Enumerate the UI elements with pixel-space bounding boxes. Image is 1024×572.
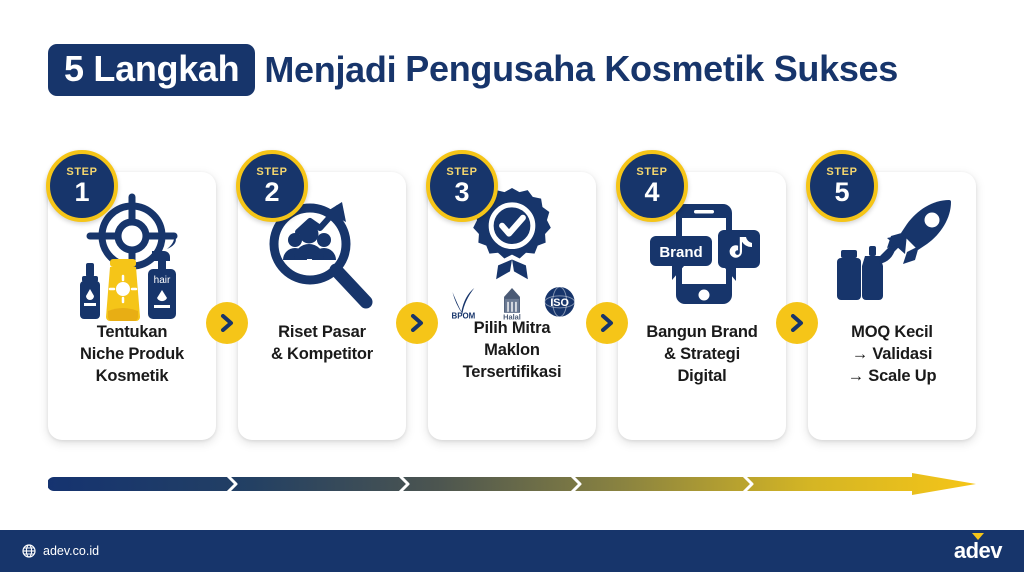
page-title: 5 Langkah Menjadi Pengusaha Kosmetik Suk… (48, 44, 898, 96)
step-card-label: Riset Pasar & Kompetitor (265, 322, 379, 366)
step-badge-2: STEP 2 (236, 150, 308, 222)
label-line: Tentukan (80, 322, 184, 344)
step-word: STEP (446, 167, 477, 178)
label-line: Digital (646, 366, 757, 388)
label-line: Riset Pasar (271, 322, 373, 344)
step-badge-4: STEP 4 (616, 150, 688, 222)
title-badge: 5 Langkah (48, 44, 255, 96)
label-line: Bangun Brand (646, 322, 757, 344)
label-line: Kosmetik (80, 366, 184, 388)
chevron-right-icon (598, 314, 616, 332)
step-word: STEP (826, 167, 857, 178)
footer-website-label: adev.co.id (43, 544, 99, 558)
connector-arrow-2 (396, 302, 438, 344)
title-plain-text: Menjadi (264, 52, 396, 88)
infographic-page: 5 Langkah Menjadi Pengusaha Kosmetik Suk… (0, 0, 1024, 572)
step-number: 1 (74, 179, 89, 206)
chevron-right-icon (408, 314, 426, 332)
label-line: MOQ Kecil (848, 322, 937, 344)
footer-website[interactable]: adev.co.id (22, 544, 99, 558)
brand-logo: adev (954, 540, 1002, 562)
label-line: & Strategi (646, 344, 757, 366)
step-card-label: Bangun Brand & Strategi Digital (640, 322, 763, 387)
label-line: Pilih Mitra (463, 318, 562, 340)
connector-arrow-1 (206, 302, 248, 344)
step-badge-5: STEP 5 (806, 150, 878, 222)
label-line: & Kompetitor (271, 344, 373, 366)
step-word: STEP (256, 167, 287, 178)
brand-bubble-text: Brand (659, 244, 702, 261)
step-word: STEP (636, 167, 667, 178)
step-number: 2 (264, 179, 279, 206)
step-number: 5 (834, 179, 849, 206)
step-number: 3 (454, 179, 469, 206)
step-number: 4 (644, 179, 659, 206)
logo-triangle-icon (972, 533, 984, 540)
connector-arrow-4 (776, 302, 818, 344)
label-line: Maklon (463, 340, 562, 362)
label-line: → Scale Up (848, 366, 937, 388)
step-badge-1: STEP 1 (46, 150, 118, 222)
step-card-label: Pilih Mitra Maklon Tersertifikasi (457, 318, 568, 383)
step-card-label: Tentukan Niche Produk Kosmetik (74, 322, 190, 387)
gradient-progress-arrow (48, 473, 980, 495)
brand-logo-text: adev (954, 538, 1002, 563)
footer-bar: adev.co.id adev (0, 530, 1024, 572)
svg-text:hair: hair (154, 275, 171, 286)
label-line: Niche Produk (80, 344, 184, 366)
chevron-right-icon (218, 314, 236, 332)
steps-container: hair Tentukan Niche Produk Kosmetik (0, 150, 1024, 450)
chevron-right-icon (788, 314, 806, 332)
step-badge-3: STEP 3 (426, 150, 498, 222)
svg-text:ISO: ISO (550, 297, 569, 309)
label-line: Tersertifikasi (463, 362, 562, 384)
connector-arrow-3 (586, 302, 628, 344)
title-highlight-text: Pengusaha Kosmetik Sukses (405, 51, 898, 89)
step-card-label: MOQ Kecil → Validasi → Scale Up (842, 322, 943, 387)
step-word: STEP (66, 167, 97, 178)
globe-icon (22, 544, 36, 558)
label-line: → Validasi (848, 344, 937, 366)
